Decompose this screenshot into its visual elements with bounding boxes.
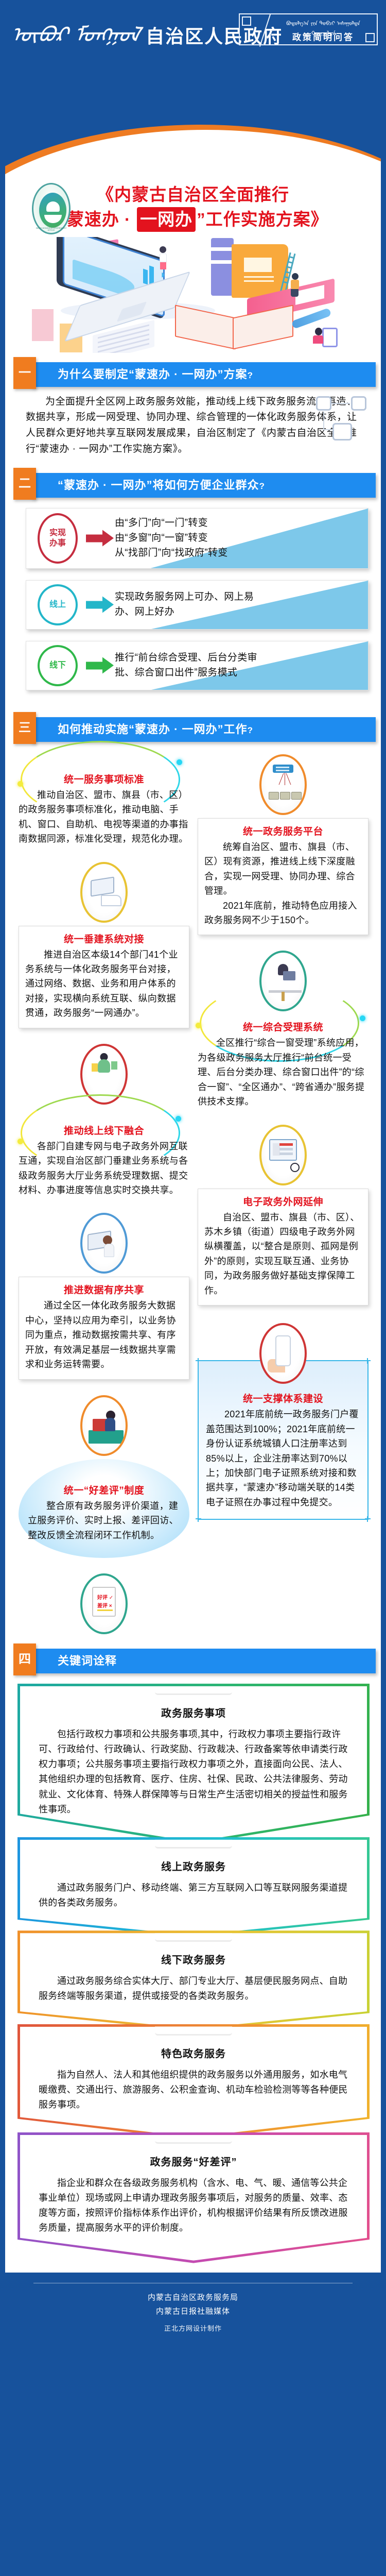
- keyword-title: 线上政务服务: [39, 1858, 348, 1873]
- benefit-row-2: 线上 实现政务服务网上可办、网上易 办、网上好办: [26, 580, 369, 630]
- measure-body-2: 2021年底前，推动特色应用接入政务服务网不少于150个。: [204, 899, 362, 928]
- section-title-2-text: “蒙速办 · 一网办”将如何方便企业群众: [58, 479, 259, 492]
- measure-body: 整合原有政务服务评价渠道，建立服务评价、实时上报、差评回访、整改反馈全流程闭环工…: [28, 1499, 180, 1543]
- section-header-3: 三 如何推动实施“蒙速办 · 一网办”工作?: [23, 717, 376, 742]
- section-title-1-mark: ?: [248, 370, 253, 380]
- mongolian-logo-icon: ᠦᠪᠦᠷ ᠮᠣᠩᠭᠣᠯ: [10, 25, 141, 45]
- purple-book-icon: [211, 238, 234, 296]
- measure-body: 自治区、盟市、旗县（市、区）、苏木乡镇（街道）四级电子政务外网纵横覆盖，以“整合…: [204, 1210, 362, 1298]
- keyword-card-2: 线上政务服务 通过政务服务门户、移动终端、第三方互联网入口等互联网服务渠道提供的…: [17, 1837, 370, 1938]
- measure-block-comprehensive-acceptance: 统一综合受理系统 全区推行“综合一窗受理”系统应用，为各级政务服务大厅推行“前台…: [198, 1014, 369, 1109]
- keyword-cards: 政务服务事项 包括行政权力事项和公共服务事项,其中，行政权力事项主要指行政许可、…: [5, 1681, 381, 2273]
- extranet-tablet-icon: [259, 1125, 307, 1185]
- benefit-row-3-label: 线下: [38, 645, 78, 686]
- data-share-person-icon: [80, 1213, 128, 1274]
- measure-block-integration: 推动线上线下融合 各部门自建专网与电子政务外网互联互通，实现自治区部门垂建业务系…: [19, 1108, 189, 1198]
- arrow-right-icon: [86, 534, 103, 542]
- keyword-body: 指企业和群众在各级政务服务机构（含水、电、气、暖、通信等公共企事业单位）现场或网…: [39, 2176, 348, 2236]
- pink-cube-icon: [32, 309, 54, 341]
- hero-illustration: ◗: [5, 237, 381, 353]
- card-tab-icon: [155, 2025, 232, 2036]
- measure-title: 推动线上线下融合: [19, 1123, 189, 1137]
- benefit-row-3: 线下 推行“前台综合受理、后台分类审 批、综合窗口出件”服务模式: [26, 641, 369, 690]
- measure-body: 全区推行“综合一窗受理”系统应用，为各级政务服务大厅推行“前台统一受理、后台分类…: [198, 1036, 369, 1109]
- review-clipboard-icon: 好评 ✓差评 ×: [80, 1573, 128, 1634]
- measure-title: 统一支撑体系建设: [206, 1391, 360, 1405]
- section-3-columns: 统一服务事项标准 推动自治区、盟市、旗县（市、区）的政务服务事项标准化，推动电脑…: [5, 749, 381, 1637]
- measure-body: 推动自治区、盟市、旗县（市、区）的政务服务事项标准化，推动电脑、手机、窗口、自助…: [19, 788, 189, 846]
- measure-block-vertical-systems: 统一垂建系统对接 推进自治区本级14个部门41个业务系统与一体化政务服务平台对接…: [19, 926, 189, 1028]
- mobile-support-icon: [259, 1323, 307, 1384]
- section-header-2: 二 “蒙速办 · 一网办”将如何方便企业群众?: [23, 473, 376, 498]
- title-line-2-suffix: ”工作实施方案》: [197, 210, 328, 229]
- benefit-row-1-lines: 由“多门”向“一门”转变 由“多窗”向“一窗”转变 从“找部门”向“找政府”转变: [115, 516, 228, 561]
- section-title-1-text: 为什么要制定“蒙速办 · 一网办”方案: [58, 368, 248, 381]
- network-diagram-icon: [316, 396, 366, 446]
- content-sheet: INNER MONGOLIA GOVERNMENT OFFICE 《内蒙古自治区…: [5, 103, 381, 2273]
- wifi-icon: ◗: [160, 268, 173, 278]
- benefit-row-1-label: 实现 办事: [38, 513, 78, 564]
- arrow-right-icon: [86, 601, 103, 608]
- measure-block-unified-platform: 统一政务服务平台 统筹自治区、盟市、旗县（市、区）现有资源，推进线上线下深度融合…: [198, 818, 369, 936]
- keyword-body: 通过政务服务门户、移动终端、第三方互联网入口等互联网服务渠道提供的各类政务服务。: [39, 1880, 348, 1910]
- laptop-book-icon: [80, 862, 128, 923]
- section-3-right-column: 统一政务服务平台 统筹自治区、盟市、旗县（市、区）现有资源，推进线上线下深度融合…: [198, 754, 369, 1637]
- section-header-1: 一 为什么要制定“蒙速办 · 一网办”方案?: [23, 362, 376, 387]
- section-title-2: “蒙速办 · 一网办”将如何方便企业群众?: [31, 473, 376, 498]
- keyword-title: 政务服务“好差评”: [39, 2154, 348, 2168]
- government-seal-icon: INNER MONGOLIA GOVERNMENT OFFICE: [32, 183, 71, 234]
- orange-book-icon: [232, 244, 288, 298]
- card-tab-icon: [155, 2133, 232, 2144]
- section-number-2: 二: [13, 468, 36, 500]
- page-footer: 内蒙古自治区政务服务局 内蒙古日报社融媒体 正北方网设计制作: [0, 2273, 386, 2344]
- arc-node-icon: [177, 759, 182, 765]
- section-title-3: 如何推动实施“蒙速办 · 一网办”工作?: [31, 717, 376, 742]
- online-offline-person-icon: [80, 1044, 128, 1105]
- network-server-icon: [259, 754, 307, 815]
- person-pointing-icon: [160, 246, 168, 269]
- section-2-rows: 实现 办事 由“多门”向“一门”转变 由“多窗”向“一窗”转变 从“找部门”向“…: [5, 505, 381, 704]
- slash-divider-icon: [259, 14, 271, 46]
- keyword-card-1: 政务服务事项 包括行政权力事项和公共服务事项,其中，行政权力事项主要指行政许可、…: [17, 1684, 370, 1844]
- badge-chinese-text: 政策简明问答: [274, 30, 373, 43]
- measure-body: 各部门自建专网与电子政务外网互联互通，实现自治区部门垂建业务系统与各级政务服务大…: [19, 1139, 189, 1198]
- benefit-row-1: 实现 办事 由“多门”向“一门”转变 由“多窗”向“一窗”转变 从“找部门”向“…: [26, 508, 369, 569]
- keyword-title: 特色政务服务: [39, 2045, 348, 2060]
- section-header-4: 四 关键词诠释: [23, 1649, 376, 1673]
- section-number-1: 一: [13, 357, 36, 389]
- benefit-row-2-lines: 实现政务服务网上可办、网上易 办、网上好办: [115, 590, 254, 620]
- section-3-left-column: 统一服务事项标准 推动自治区、盟市、旗县（市、区）的政务服务事项标准化，推动电脑…: [19, 754, 189, 1637]
- measure-block-standard: 统一服务事项标准 推动自治区、盟市、旗县（市、区）的政务服务事项标准化，推动电脑…: [19, 754, 189, 846]
- section-title-4-text: 关键词诠释: [58, 1654, 117, 1667]
- footer-line-2: 内蒙古日报社融媒体: [0, 2304, 386, 2318]
- measure-title: 统一综合受理系统: [198, 1020, 369, 1033]
- card-tab-icon: [155, 1931, 232, 1942]
- section-title-1: 为什么要制定“蒙速办 · 一网办”方案?: [31, 362, 376, 387]
- header-curve-decoration: [5, 103, 381, 180]
- benefit-row-2-label: 线上: [38, 584, 78, 625]
- section-number-3: 三: [13, 712, 36, 744]
- benefit-row-3-lines: 推行“前台综合受理、后台分类审 批、综合窗口出件”服务模式: [115, 651, 257, 681]
- section-title-4: 关键词诠释: [31, 1649, 376, 1673]
- keyword-card-3: 线下政务服务 通过政务服务综合实体大厅、部门专业大厅、基层便民服务网点、自助服务…: [17, 1930, 370, 2031]
- card-tab-icon: [155, 1685, 232, 1695]
- section-title-3-mark: ?: [248, 725, 253, 735]
- footer-line-1: 内蒙古自治区政务服务局: [0, 2291, 386, 2304]
- measure-block-extranet: 电子政务外网延伸 自治区、盟市、旗县（市、区）、苏木乡镇（街道）四级电子政务外网…: [198, 1189, 369, 1306]
- keyword-body: 包括行政权力事项和公共服务事项,其中，行政权力事项主要指行政许可、行政给付、行政…: [39, 1727, 348, 1817]
- footer-line-3: 正北方网设计制作: [0, 2323, 386, 2334]
- keyword-card-5: 政务服务“好差评” 指企业和群众在各级政务服务机构（含水、电、气、暖、通信等公共…: [17, 2132, 370, 2263]
- measure-block-support-system: 统一支撑体系建设 2021年底前统一政务服务门户覆盖范围达到100%；2021年…: [198, 1360, 369, 1520]
- seal-label: INNER MONGOLIA GOVERNMENT OFFICE: [33, 227, 69, 231]
- keyword-body: 指为自然人、法人和其他组织提供的政务服务以外通用服务，如水电气暖缴费、交通出行、…: [39, 2067, 348, 2112]
- person-reading-icon: [313, 328, 326, 348]
- measure-block-data-sharing: 推进数据有序共享 通过全区一体化政务服务大数据中心，坚持以应用为牵引，以业务协同…: [19, 1277, 189, 1379]
- arc-node-icon: [176, 1116, 181, 1122]
- measure-title: 统一政务服务平台: [204, 824, 362, 838]
- section-1-body: 为全面提升全区网上政务服务效能，推动线上线下政务服务流程再造、数据共享，形成一网…: [5, 394, 381, 457]
- measure-title: 统一服务事项标准: [19, 772, 189, 786]
- measure-block-review-system: 统一“好差评”制度 整合原有政务服务评价渠道，建立服务评价、实时上报、差评回访、…: [19, 1459, 189, 1558]
- page-header: ᠦᠪᠦᠷ ᠮᠣᠩᠭᠣᠯ 自治区人民政府 ᠪᠣᠳᠣᠯᠭ᠎ᠠ ᠶᠢᠨ ᠲᠣᠪᠴᠢ ᠠ…: [0, 0, 386, 103]
- title-highlight: 一网办: [137, 207, 196, 232]
- card-tab-icon: [155, 1838, 232, 1849]
- measure-body: 统筹自治区、盟市、旗县（市、区）现有资源，推进线上线下深度融合，实现一网受理、协…: [204, 840, 362, 899]
- infographic-page: ᠦᠪᠦᠷ ᠮᠣᠩᠭᠣᠯ 自治区人民政府 ᠪᠣᠳᠣᠯᠭ᠎ᠠ ᠶᠢᠨ ᠲᠣᠪᠴᠢ ᠠ…: [0, 0, 386, 2344]
- measure-title: 统一垂建系统对接: [25, 931, 183, 945]
- arrow-right-icon: [86, 662, 103, 669]
- measure-title: 统一“好差评”制度: [28, 1483, 180, 1497]
- policy-qa-badge: ᠪᠣᠳᠣᠯᠭ᠎ᠠ ᠶᠢᠨ ᠲᠣᠪᠴᠢ ᠠᠰᠠᠭᠤᠯᠲᠠ ᠬᠠᠷᠢᠭᠤᠯᠲᠠ 政策…: [239, 13, 378, 45]
- service-desk-girl-icon: [80, 1395, 128, 1456]
- keyword-title: 政务服务事项: [39, 1705, 348, 1720]
- keyword-card-4: 特色政务服务 指为自然人、法人和其他组织提供的政务服务以外通用服务，如水电气暖缴…: [17, 2024, 370, 2140]
- measure-body: 2021年底前统一政务服务门户覆盖范围达到100%；2021年底前统一身份认证系…: [206, 1407, 360, 1510]
- open-book-icon: [175, 308, 293, 345]
- section-number-4: 四: [13, 1643, 36, 1675]
- measure-body: 推进自治区本级14个部门41个业务系统与一体化政务服务平台对接，通过网络、数据、…: [25, 947, 183, 1021]
- measure-body: 通过全区一体化政务服务大数据中心，坚持以应用为牵引，以业务协同为重点，推动数据按…: [25, 1298, 183, 1371]
- section-title-3-text: 如何推动实施“蒙速办 · 一网办”工作: [58, 723, 248, 736]
- keyword-title: 线下政务服务: [39, 1952, 348, 1967]
- service-desk-icon: [259, 951, 307, 1011]
- keyword-body: 通过政务服务综合实体大厅、部门专业大厅、基层便民服务网点、自助服务终端等服务渠道…: [39, 1974, 348, 2004]
- section-title-2-mark: ?: [259, 481, 265, 491]
- person-sitting-icon: [291, 273, 300, 297]
- measure-title: 电子政务外网延伸: [204, 1194, 362, 1208]
- measure-title: 推进数据有序共享: [25, 1282, 183, 1296]
